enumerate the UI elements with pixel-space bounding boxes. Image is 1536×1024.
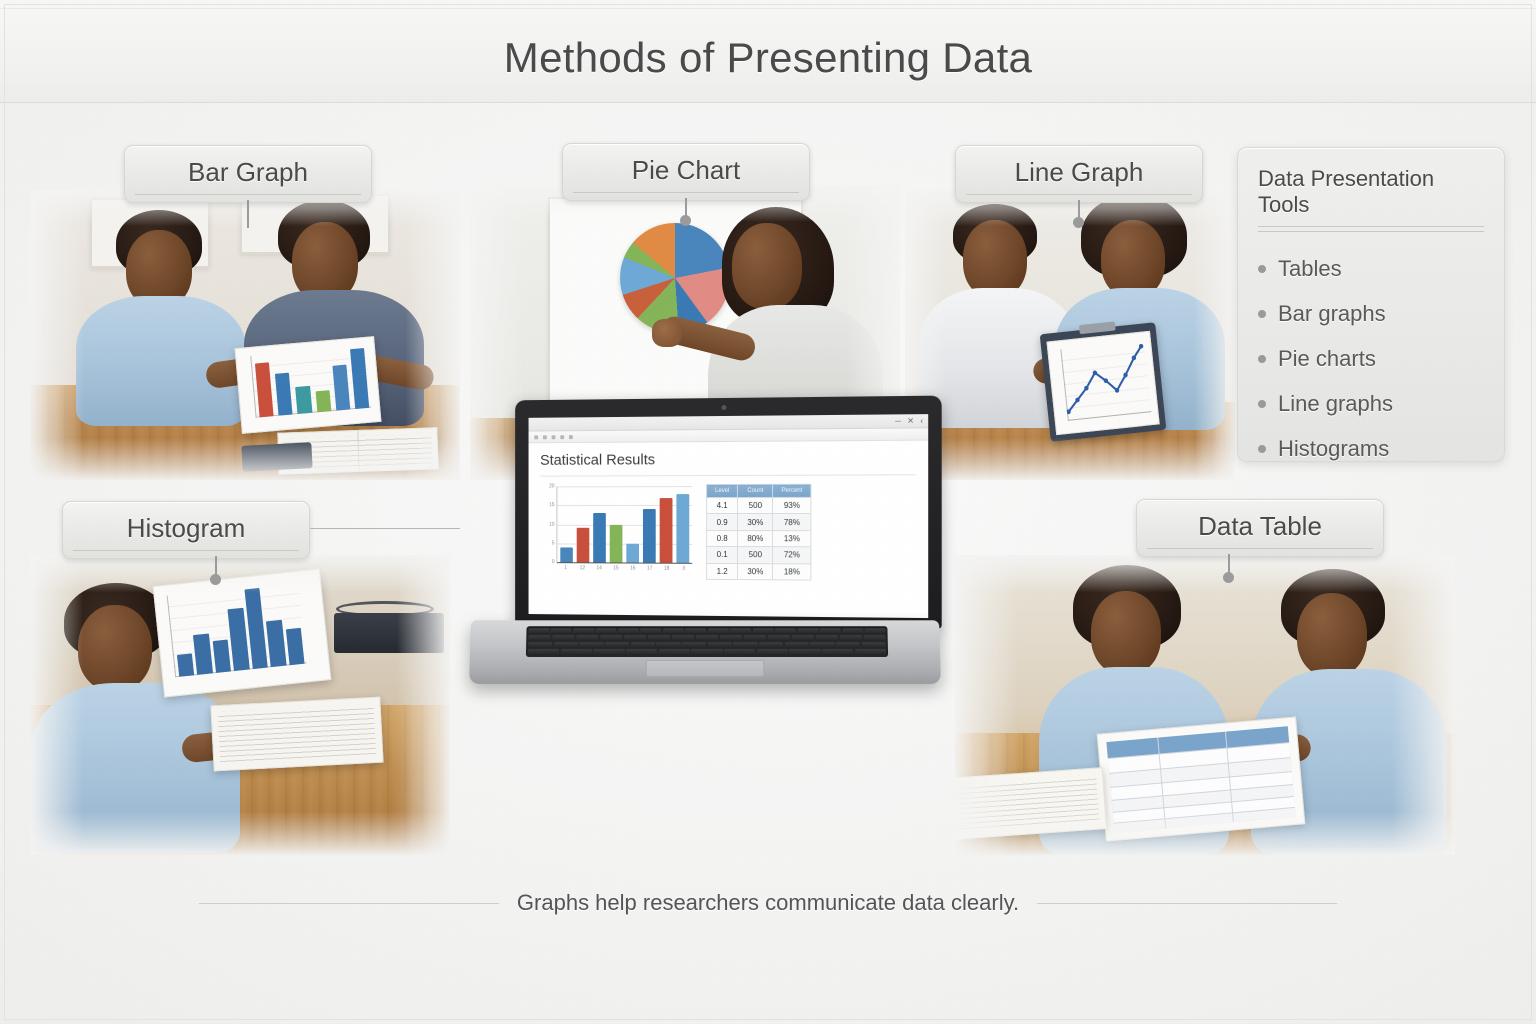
keyboard-key[interactable] xyxy=(730,628,751,634)
header-bar: Methods of Presenting Data xyxy=(0,0,1536,103)
callout-histogram[interactable]: Histogram xyxy=(62,501,310,559)
keyboard-key[interactable] xyxy=(775,628,796,634)
keyboard-key[interactable] xyxy=(596,628,617,634)
col-header: Percent xyxy=(773,484,811,497)
title-divider xyxy=(540,474,916,476)
table-cell: 13% xyxy=(773,530,811,547)
chart-bar xyxy=(676,494,689,563)
chart-x-tick: 15 xyxy=(613,565,618,571)
keyboard-key[interactable] xyxy=(836,642,860,648)
laptop-screen: ─ ✕ ‹ Statistical Results xyxy=(529,414,929,618)
keyboard-key[interactable] xyxy=(682,642,706,648)
keyboard-key[interactable] xyxy=(618,628,639,634)
keyboard-key[interactable] xyxy=(810,642,834,648)
panel-divider-1 xyxy=(1258,226,1484,227)
table-cell: 93% xyxy=(773,497,811,514)
keyboard-key[interactable] xyxy=(855,649,886,655)
chart-x-tick: 16 xyxy=(630,566,635,572)
clipboard xyxy=(1040,322,1167,442)
table-cell: 0.8 xyxy=(707,530,738,546)
results-table: Level Count Percent 4.150093%0.930%78%0.… xyxy=(706,484,811,581)
chart-bar xyxy=(560,547,573,562)
keyboard-key[interactable] xyxy=(672,635,694,641)
notebook xyxy=(210,697,383,772)
chart-x-tick: 17 xyxy=(647,566,652,572)
table-cell: 500 xyxy=(738,497,773,513)
laptop-lid: ─ ✕ ‹ Statistical Results xyxy=(515,396,942,629)
toolbar-icon-1[interactable] xyxy=(534,435,538,439)
keyboard-key[interactable] xyxy=(685,628,706,634)
keyboard-key[interactable] xyxy=(528,642,552,648)
table-cell: 0.9 xyxy=(707,514,738,530)
photo-data-table-pair xyxy=(955,555,1455,855)
keyboard[interactable] xyxy=(526,626,888,657)
tools-list-label: Line graphs xyxy=(1278,391,1393,417)
panel-divider-2 xyxy=(1258,231,1484,232)
bullet-icon xyxy=(1258,310,1266,318)
keyboard-key[interactable] xyxy=(759,642,783,648)
bullet-icon xyxy=(1258,355,1266,363)
keyboard-key[interactable] xyxy=(753,628,774,634)
held-bar-graph-sheet xyxy=(235,336,382,434)
keyboard-key[interactable] xyxy=(768,635,790,641)
minimize-icon[interactable]: ─ xyxy=(895,417,901,425)
keyboard-key[interactable] xyxy=(791,635,813,641)
keyboard-key[interactable] xyxy=(593,649,624,655)
chart-bar xyxy=(593,513,606,562)
tools-list: TablesBar graphsPie chartsLine graphsHis… xyxy=(1258,246,1484,471)
y-tick: 0 xyxy=(552,559,555,565)
callout-pie-chart[interactable]: Pie Chart xyxy=(562,143,810,201)
callout-label: Bar Graph xyxy=(188,157,308,187)
keyboard-key[interactable] xyxy=(659,649,690,655)
keyboard-key[interactable] xyxy=(842,628,863,634)
caption-text: Graphs help researchers communicate data… xyxy=(517,890,1019,916)
table-cell: 4.1 xyxy=(707,497,738,513)
table-cell: 72% xyxy=(773,547,811,564)
keyboard-key[interactable] xyxy=(573,628,594,634)
col-header: Count xyxy=(738,484,773,497)
keyboard-key[interactable] xyxy=(708,628,729,634)
tools-list-item[interactable]: Line graphs xyxy=(1258,381,1484,426)
chart-x-tick: 18 xyxy=(664,566,669,572)
keyboard-key[interactable] xyxy=(605,642,629,648)
keyboard-key[interactable] xyxy=(820,628,841,634)
table-cell: 500 xyxy=(738,547,773,564)
page-title: Methods of Presenting Data xyxy=(0,34,1536,82)
tablet-device xyxy=(241,442,312,472)
keyboard-key[interactable] xyxy=(528,649,559,655)
caption-rule-right xyxy=(1037,903,1337,904)
photo-line-graph-pair xyxy=(905,190,1235,480)
tools-list-item[interactable]: Bar graphs xyxy=(1258,291,1484,336)
restore-icon[interactable]: ‹ xyxy=(920,417,923,425)
toolbar-icon-2[interactable] xyxy=(543,435,547,439)
callout-label: Pie Chart xyxy=(632,155,740,185)
leader-dot-pie-chart xyxy=(680,215,691,226)
photo-histogram-student xyxy=(30,555,450,855)
callout-label: Data Table xyxy=(1198,511,1322,541)
caption-rule-left xyxy=(199,903,499,904)
held-histogram-sheet xyxy=(153,569,332,698)
callout-bar-graph[interactable]: Bar Graph xyxy=(124,145,372,203)
table-cell: 30% xyxy=(738,514,773,530)
tools-list-label: Histograms xyxy=(1278,436,1389,462)
trackpad[interactable] xyxy=(646,660,764,677)
chart-bars xyxy=(560,486,689,563)
keyboard-key[interactable] xyxy=(561,649,592,655)
keyboard-key[interactable] xyxy=(815,635,838,641)
leader-h-histogram xyxy=(310,528,460,529)
table-header-row: Level Count Percent xyxy=(707,484,811,497)
keyboard-key[interactable] xyxy=(600,635,622,641)
keyboard-key[interactable] xyxy=(708,642,732,648)
keyboard-key[interactable] xyxy=(724,649,755,655)
keyboard-key[interactable] xyxy=(863,635,886,641)
chart-x-tick: 14 xyxy=(596,565,601,571)
laptop: ─ ✕ ‹ Statistical Results xyxy=(470,398,940,718)
chart-bar xyxy=(610,524,623,562)
table-cell: 18% xyxy=(773,563,811,580)
eyeglasses xyxy=(336,601,434,617)
caption-row: Graphs help researchers communicate data… xyxy=(0,890,1536,916)
bullet-icon xyxy=(1258,265,1266,273)
keyboard-key[interactable] xyxy=(696,635,718,641)
table-row: 4.150093% xyxy=(707,497,811,514)
bullet-icon xyxy=(1258,445,1266,453)
table-cell: 1.2 xyxy=(707,563,738,580)
close-icon[interactable]: ✕ xyxy=(907,417,914,425)
y-tick: 10 xyxy=(549,521,554,527)
keyboard-key[interactable] xyxy=(624,635,646,641)
leader-bar-graph xyxy=(247,200,249,228)
desk-papers xyxy=(955,767,1107,841)
callout-label: Histogram xyxy=(127,513,245,543)
tools-list-item[interactable]: Histograms xyxy=(1258,426,1484,471)
y-tick: 15 xyxy=(549,502,554,508)
y-tick: 20 xyxy=(549,483,554,489)
chart-x-tick: 1 xyxy=(564,565,567,571)
keyboard-key[interactable] xyxy=(552,635,575,641)
laptop-base xyxy=(469,620,941,684)
keyboard-key[interactable] xyxy=(789,649,820,655)
keyboard-key[interactable] xyxy=(733,642,757,648)
webcam-icon xyxy=(722,405,727,410)
keyboard-key[interactable] xyxy=(648,635,670,641)
table-row: 1.230%18% xyxy=(707,563,811,580)
table-cell: 0.1 xyxy=(707,547,738,564)
bullet-icon xyxy=(1258,400,1266,408)
leader-dot-histogram xyxy=(210,574,221,585)
keyboard-key[interactable] xyxy=(579,642,603,648)
keyboard-key[interactable] xyxy=(822,649,853,655)
table-cell: 78% xyxy=(773,514,811,531)
tools-list-item[interactable]: Pie charts xyxy=(1258,336,1484,381)
keyboard-key[interactable] xyxy=(691,649,722,655)
toolbar-icon-4[interactable] xyxy=(560,435,564,439)
keyboard-key[interactable] xyxy=(785,642,809,648)
callout-line-graph[interactable]: Line Graph xyxy=(955,145,1203,203)
keyboard-key[interactable] xyxy=(797,628,818,634)
tools-list-label: Pie charts xyxy=(1278,346,1376,372)
photo-bar-graph-pair xyxy=(30,190,460,480)
keyboard-key[interactable] xyxy=(576,635,599,641)
keyboard-key[interactable] xyxy=(631,642,655,648)
statistical-bar-chart: 20 15 10 5 0 11214151617183 xyxy=(540,484,694,580)
keyboard-key[interactable] xyxy=(626,649,657,655)
keyboard-key[interactable] xyxy=(720,635,742,641)
panel-title: Data Presentation Tools xyxy=(1258,166,1484,218)
tools-list-label: Bar graphs xyxy=(1278,301,1386,327)
keyboard-key[interactable] xyxy=(663,628,684,634)
keyboard-key[interactable] xyxy=(528,635,551,641)
chart-x-tick: 12 xyxy=(580,565,585,571)
clipboard-sheet xyxy=(1046,331,1159,435)
keyboard-key[interactable] xyxy=(640,628,661,634)
line-graph-svg xyxy=(1060,340,1151,420)
chart-bar xyxy=(660,498,673,563)
table-cell: 80% xyxy=(738,530,773,547)
col-header: Level xyxy=(707,484,738,497)
table-row: 0.880%13% xyxy=(707,530,811,547)
tools-list-label: Tables xyxy=(1278,256,1342,282)
screen-content: Statistical Results 20 15 xyxy=(529,441,929,618)
leader-dot-line-graph xyxy=(1073,217,1084,228)
chart-x-tick: 3 xyxy=(682,566,685,572)
book xyxy=(334,613,444,653)
keyboard-key[interactable] xyxy=(554,642,578,648)
data-presentation-tools-panel: Data Presentation Tools TablesBar graphs… xyxy=(1237,147,1505,462)
keyboard-key[interactable] xyxy=(757,649,788,655)
toolbar-icon-5[interactable] xyxy=(569,435,573,439)
keyboard-key[interactable] xyxy=(551,628,572,634)
chart-bar xyxy=(643,509,656,563)
leader-dot-data-table xyxy=(1223,572,1234,583)
callout-label: Line Graph xyxy=(1015,157,1144,187)
table-row: 0.150072% xyxy=(707,547,811,564)
tools-list-item[interactable]: Tables xyxy=(1258,246,1484,291)
keyboard-key[interactable] xyxy=(839,635,862,641)
y-tick: 5 xyxy=(552,540,555,546)
chart-bar xyxy=(626,543,639,562)
keyboard-key[interactable] xyxy=(865,628,886,634)
chart-bar xyxy=(577,528,590,562)
table-row: 0.930%78% xyxy=(707,514,811,531)
screen-title: Statistical Results xyxy=(540,450,916,469)
keyboard-key[interactable] xyxy=(744,635,766,641)
keyboard-key[interactable] xyxy=(862,642,886,648)
table-cell: 30% xyxy=(738,563,773,580)
callout-data-table[interactable]: Data Table xyxy=(1136,499,1384,557)
keyboard-key[interactable] xyxy=(528,628,549,634)
toolbar-icon-3[interactable] xyxy=(552,435,556,439)
chart-plot-area: 20 15 10 5 0 11214151617183 xyxy=(556,486,692,564)
held-data-table-sheet xyxy=(1097,716,1306,841)
keyboard-key[interactable] xyxy=(656,642,680,648)
poster-root: Methods of Presenting Data xyxy=(0,0,1536,1024)
